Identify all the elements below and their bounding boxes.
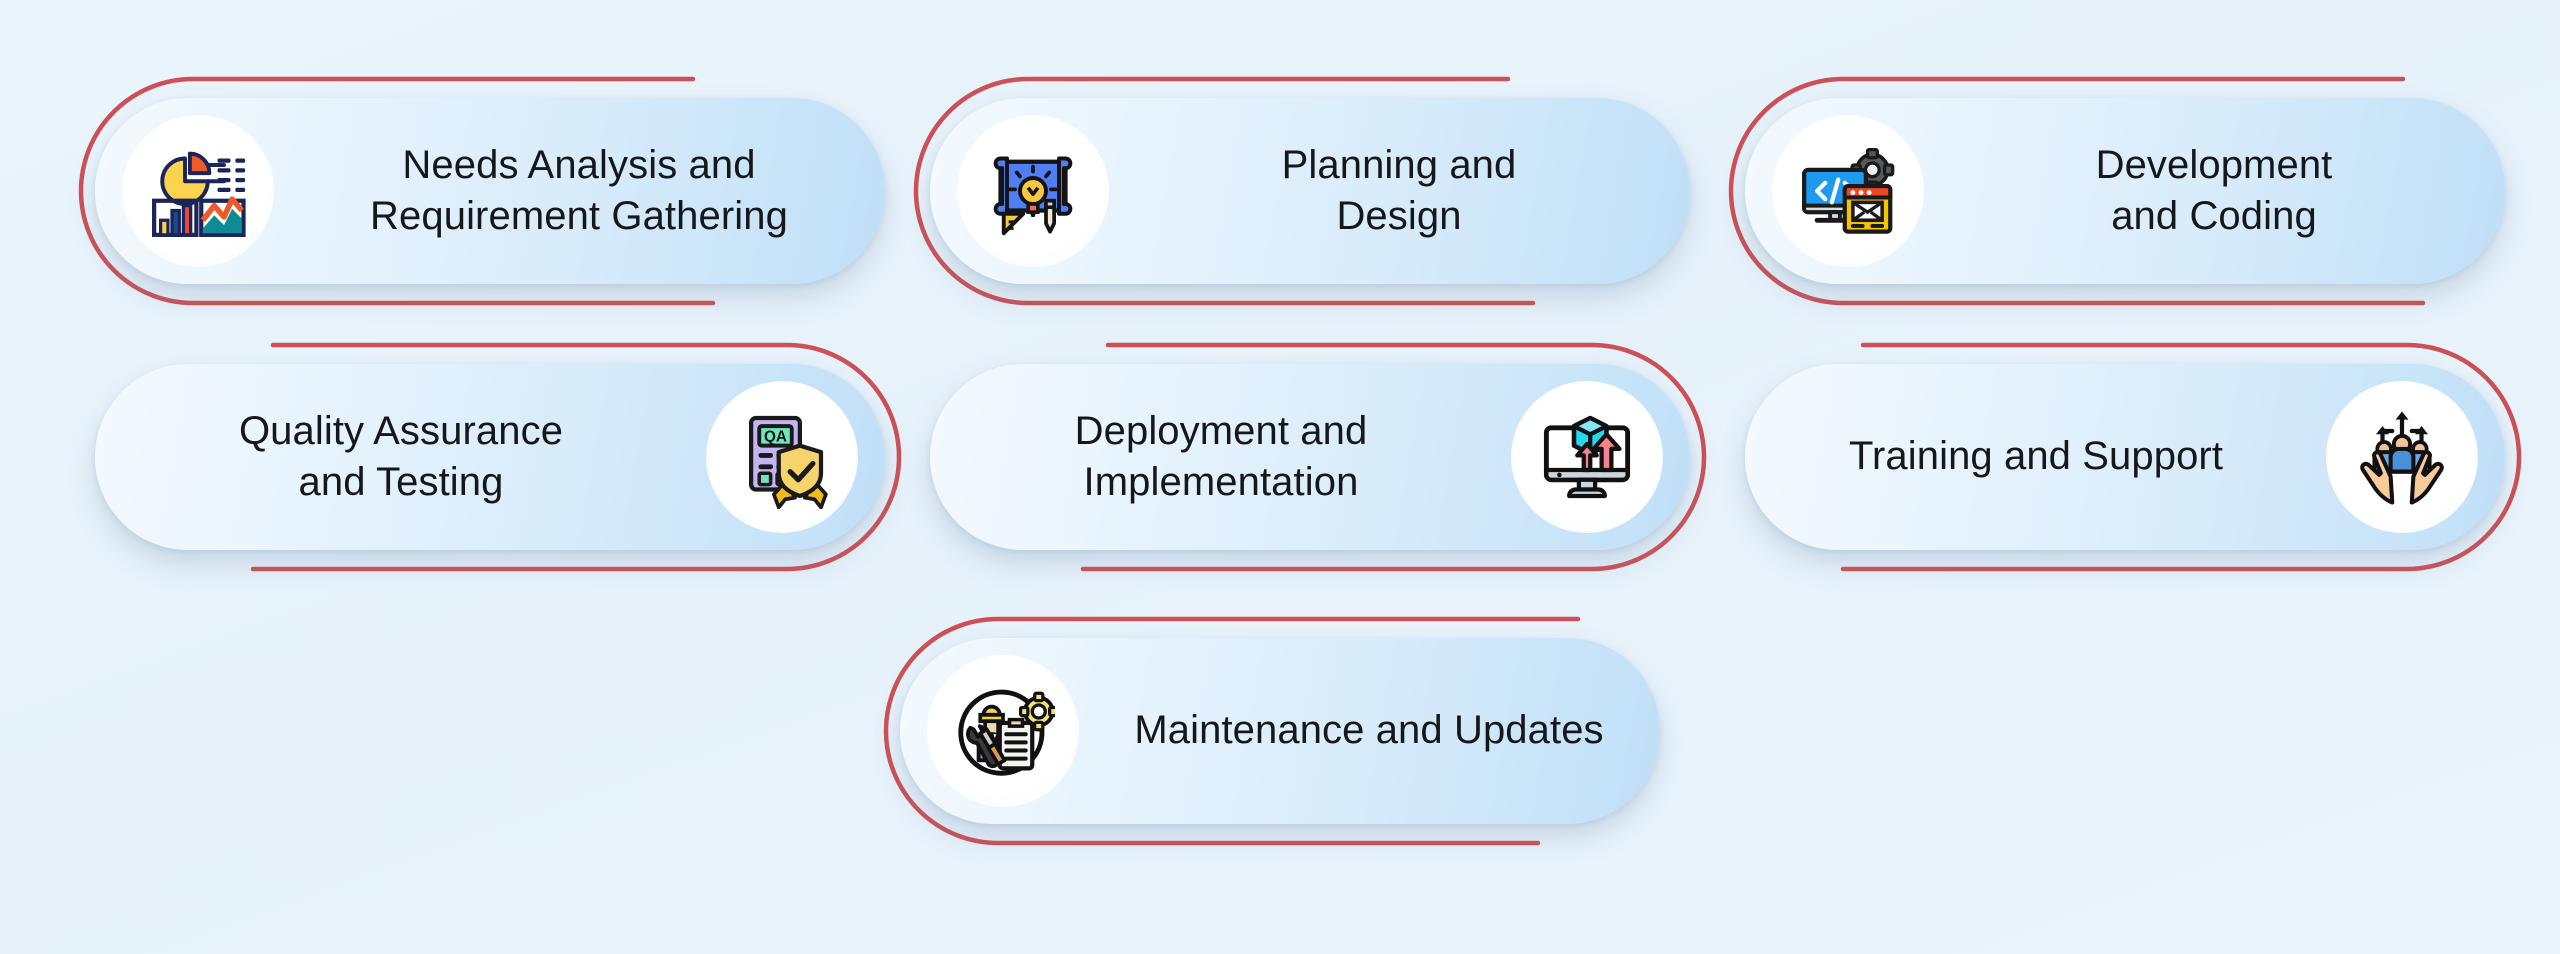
monitor-code-gear-icon <box>1773 116 1923 266</box>
step-pill-5[interactable]: Deployment and Implementation <box>930 364 1690 550</box>
monitor-cube-arrows-icon <box>1512 382 1662 532</box>
step-label-1: Needs Analysis and Requirement Gathering <box>273 140 885 242</box>
qa-clipboard-badge-icon: QA <box>707 382 857 532</box>
step-pill-3[interactable]: Development and Coding <box>1745 98 2505 284</box>
diagram-canvas: Needs Analysis and Requirement Gathering <box>0 0 2560 954</box>
step-pill-7[interactable]: Maintenance and Updates <box>900 638 1660 824</box>
step-label-2: Planning and Design <box>1108 140 1690 242</box>
blueprint-lightbulb-icon <box>958 116 1108 266</box>
step-card-4[interactable]: QA Quality Assurance and Testing <box>95 364 885 550</box>
step-label-6: Training and Support <box>1745 431 2327 482</box>
step-label-4: Quality Assurance and Testing <box>95 406 707 508</box>
step-card-6[interactable]: Training and Support <box>1745 364 2505 550</box>
step-pill-2[interactable]: Planning and Design <box>930 98 1690 284</box>
step-card-1[interactable]: Needs Analysis and Requirement Gathering <box>95 98 885 284</box>
svg-text:QA: QA <box>764 429 787 446</box>
step-label-3: Development and Coding <box>1923 140 2505 242</box>
step-card-3[interactable]: Development and Coding <box>1745 98 2505 284</box>
step-pill-1[interactable]: Needs Analysis and Requirement Gathering <box>95 98 885 284</box>
step-label-5: Deployment and Implementation <box>930 406 1512 508</box>
step-pill-6[interactable]: Training and Support <box>1745 364 2505 550</box>
step-label-7: Maintenance and Updates <box>1078 705 1660 756</box>
hands-people-arrows-icon <box>2327 382 2477 532</box>
step-card-2[interactable]: Planning and Design <box>930 98 1690 284</box>
worker-tools-clipboard-gear-icon <box>928 656 1078 806</box>
step-pill-4[interactable]: QA Quality Assurance and Testing <box>95 364 885 550</box>
analytics-charts-icon <box>123 116 273 266</box>
step-card-7[interactable]: Maintenance and Updates <box>900 638 1660 824</box>
step-card-5[interactable]: Deployment and Implementation <box>930 364 1690 550</box>
